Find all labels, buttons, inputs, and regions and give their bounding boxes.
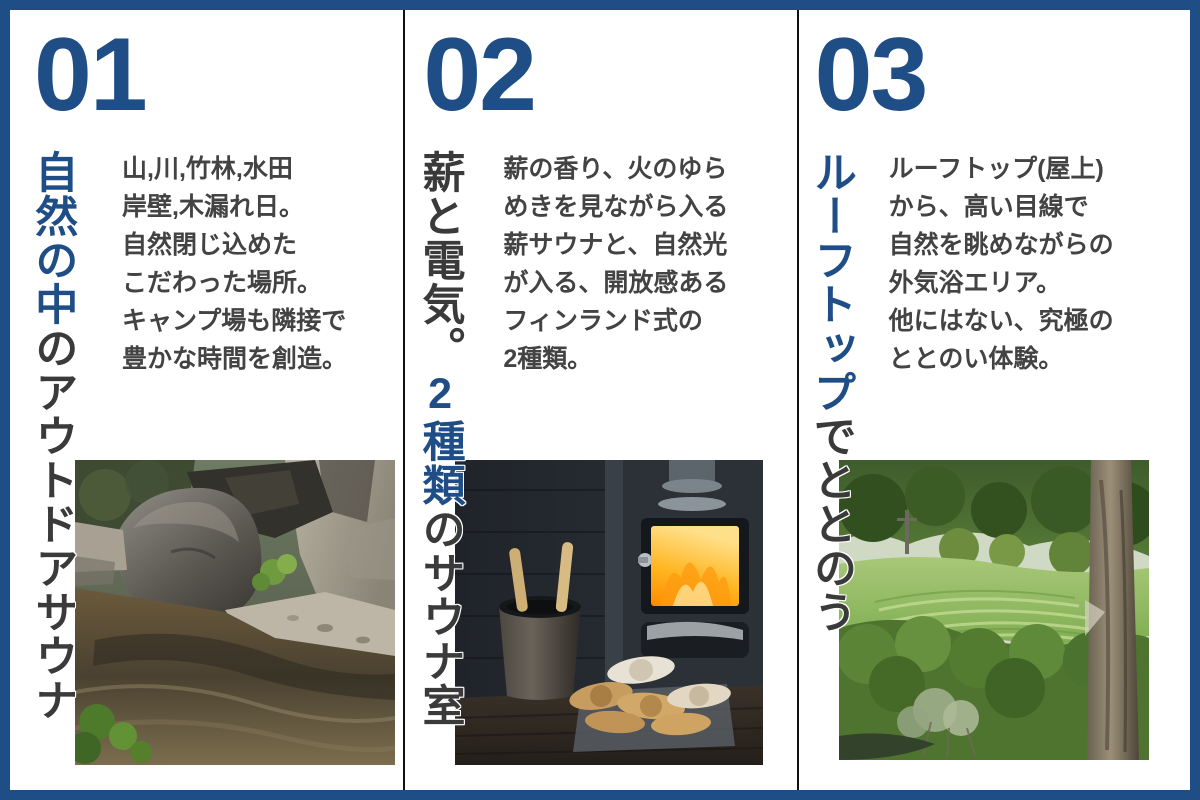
feature-panel-01: 01 自然の中のアウトドアサウナ 山,川,竹林,水田 岸壁,木漏れ日。 自然閉じ… xyxy=(10,10,403,790)
feature-panel-03: 03 ルーフトップでととのう ルーフトップ(屋上) から、高い目線で 自然を眺め… xyxy=(797,10,1190,790)
headline-accent-01: 自然の中 xyxy=(29,150,77,326)
vertical-headline-03: ルーフトップでととのう xyxy=(809,150,854,770)
poster-frame: 01 自然の中のアウトドアサウナ 山,川,竹林,水田 岸壁,木漏れ日。 自然閉じ… xyxy=(0,0,1200,800)
panel-number-03: 03 xyxy=(815,26,927,125)
headline-accent-02: 2種類 xyxy=(416,370,464,507)
panel-number-01: 01 xyxy=(34,26,146,125)
stream-rock-photo-icon xyxy=(75,460,395,765)
panel-photo-01 xyxy=(75,460,395,765)
headline-accent-prefix-02: 薪と電気。 xyxy=(416,150,464,370)
headline-rest-01: のアウトドアサウナ xyxy=(29,326,77,722)
green-field-photo-icon xyxy=(839,460,1149,760)
panel-body-02: 薪の香り、火のゆら めきを見ながら入る 薪サウナと、自然光 が入る、開放感ある … xyxy=(503,150,771,378)
vertical-headline-02: 薪と電気。2種類のサウナ室 xyxy=(417,150,462,770)
wood-stove-sauna-photo-icon xyxy=(455,460,763,765)
panel-inner-03: 03 ルーフトップでととのう ルーフトップ(屋上) から、高い目線で 自然を眺め… xyxy=(797,10,1190,790)
panel-photo-02 xyxy=(455,460,763,765)
feature-panel-02: 02 薪と電気。2種類のサウナ室 薪の香り、火のゆら めきを見ながら入る 薪サウ… xyxy=(403,10,796,790)
panel-inner-01: 01 自然の中のアウトドアサウナ 山,川,竹林,水田 岸壁,木漏れ日。 自然閉じ… xyxy=(10,10,403,790)
panel-body-01: 山,川,竹林,水田 岸壁,木漏れ日。 自然閉じ込めた こだわった場所。 キャンプ… xyxy=(122,150,390,378)
headline-rest-03: でととのう xyxy=(807,414,855,634)
panel-number-02: 02 xyxy=(423,26,535,125)
panel-container: 01 自然の中のアウトドアサウナ 山,川,竹林,水田 岸壁,木漏れ日。 自然閉じ… xyxy=(10,10,1190,790)
panel-inner-02: 02 薪と電気。2種類のサウナ室 薪の香り、火のゆら めきを見ながら入る 薪サウ… xyxy=(403,10,796,790)
headline-accent-03: ルーフトップ xyxy=(807,150,855,414)
vertical-headline-01: 自然の中のアウトドアサウナ xyxy=(30,150,75,770)
panel-photo-03 xyxy=(839,460,1149,760)
headline-rest-02: のサウナ室 xyxy=(416,507,464,727)
panel-body-03: ルーフトップ(屋上) から、高い目線で 自然を眺めながらの 外気浴エリア。 他に… xyxy=(889,150,1159,378)
